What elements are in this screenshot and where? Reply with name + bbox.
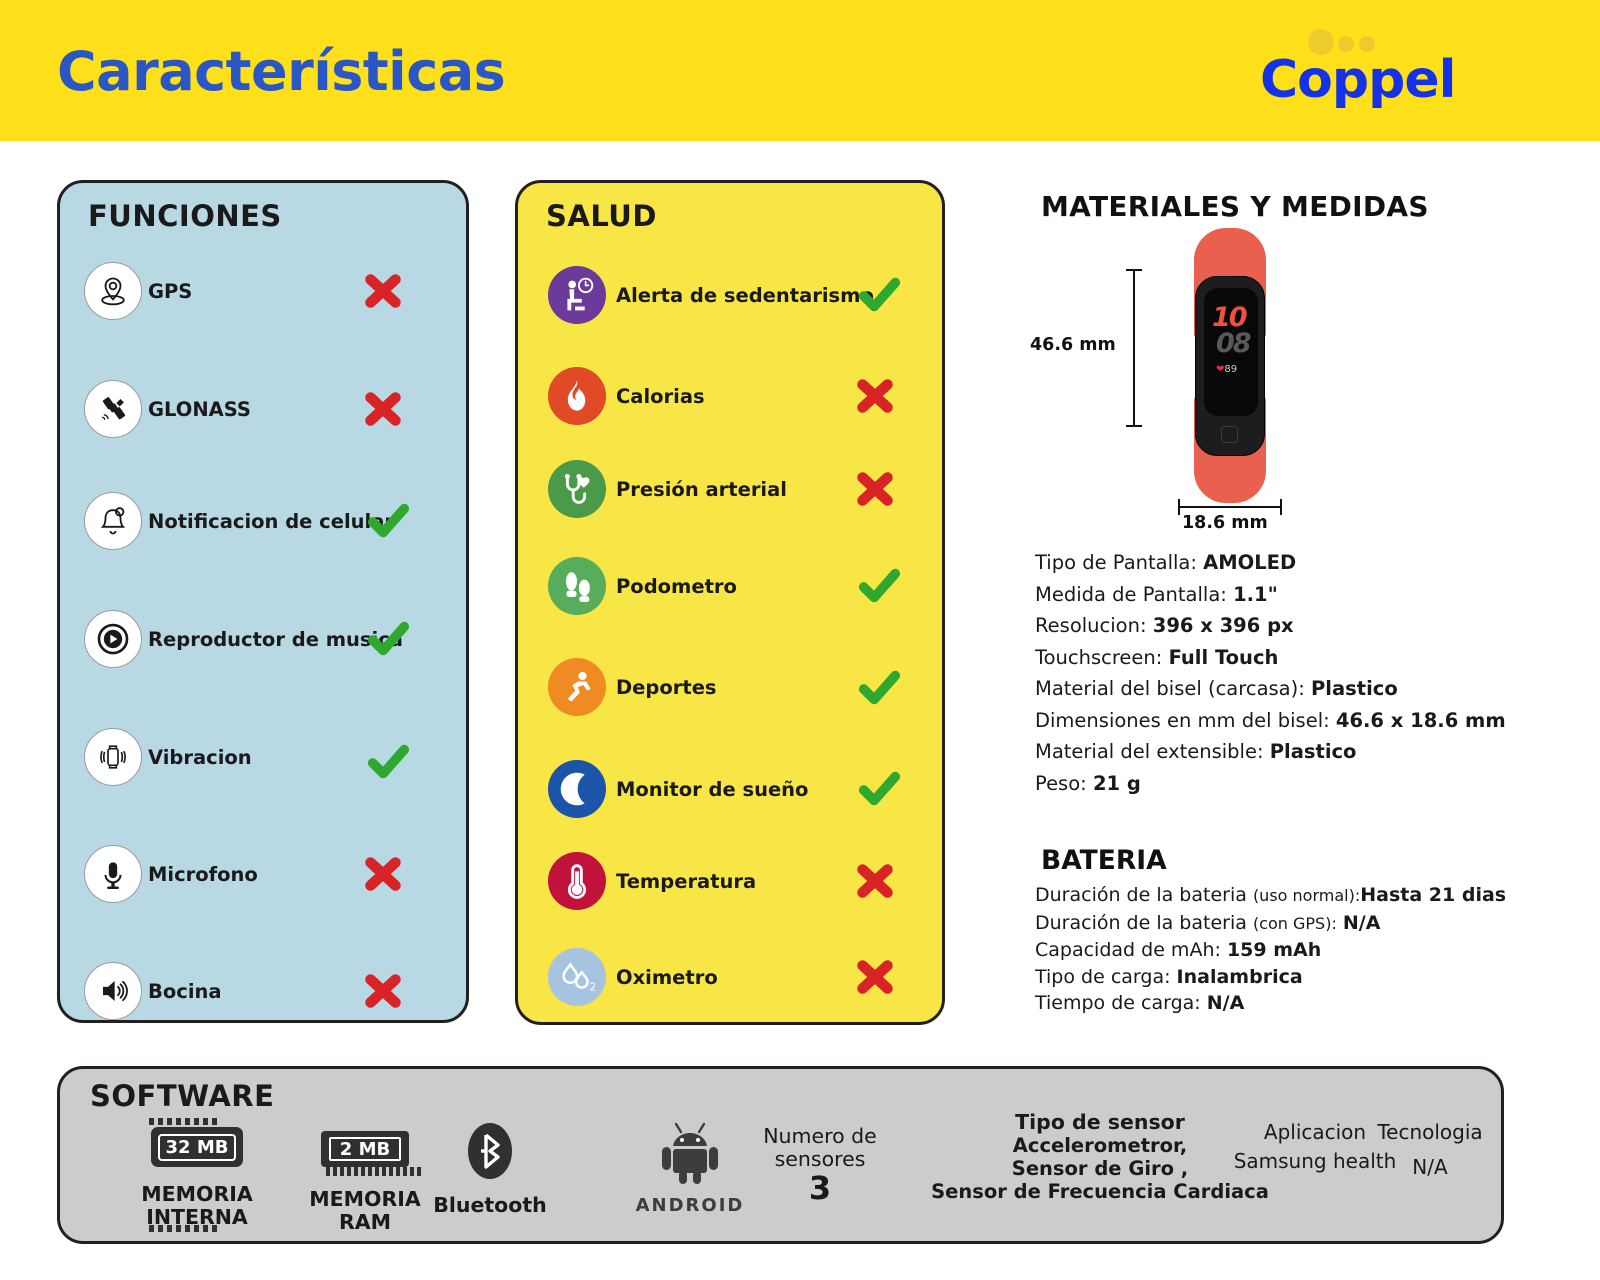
- status-x-icon: [852, 858, 898, 904]
- status-x-icon: [852, 954, 898, 1000]
- feature-label-presion: Presión arterial: [616, 478, 787, 501]
- spec-label: Dimensiones en mm del bisel:: [1035, 709, 1330, 732]
- speaker-icon: [84, 962, 142, 1020]
- spec-row: Material del extensible: Plastico: [1035, 736, 1505, 768]
- memoria-interna-caption-1: MEMORIA: [112, 1183, 282, 1206]
- smart-band: 10 08 ❤89: [1180, 228, 1280, 503]
- spec-row: Touchscreen: Full Touch: [1035, 642, 1505, 674]
- software-memoria-interna: 32 MB MEMORIA INTERNA: [112, 1127, 282, 1229]
- spec-value: Plastico: [1311, 677, 1398, 700]
- footsteps-icon: [548, 557, 606, 615]
- bluetooth-icon: [466, 1121, 514, 1181]
- band-home-button: [1221, 426, 1238, 443]
- sedentary-alert-icon: [548, 266, 606, 324]
- tipo-sensor-line-3: Sensor de Frecuencia Cardiaca: [840, 1180, 1360, 1203]
- dimension-height-line: [1133, 269, 1135, 427]
- software-bluetooth: Bluetooth: [405, 1121, 575, 1217]
- spec-row: Tipo de Pantalla: AMOLED: [1035, 547, 1505, 579]
- satellite-icon: [84, 380, 142, 438]
- spec-row: Peso: 21 g: [1035, 768, 1505, 800]
- memory-chip-pins-bottom: [149, 1225, 217, 1232]
- spec-label: Material del extensible:: [1035, 740, 1264, 763]
- bateria-list: Duración de la bateria (uso normal):Hast…: [1035, 882, 1515, 1017]
- bateria-sub: (uso normal):: [1253, 886, 1360, 905]
- bateria-value: N/A: [1207, 992, 1245, 1014]
- feature-row-gps: GPS: [60, 255, 466, 327]
- spec-value: 21 g: [1093, 772, 1141, 795]
- band-body: 10 08 ❤89: [1195, 276, 1265, 456]
- memoria-interna-value: 32 MB: [158, 1134, 236, 1161]
- bateria-row: Tiempo de carga: N/A: [1035, 990, 1515, 1017]
- spec-label: Peso:: [1035, 772, 1087, 795]
- bateria-label: Capacidad de mAh:: [1035, 939, 1221, 961]
- running-icon: [548, 658, 606, 716]
- stethoscope-heart-icon: [548, 460, 606, 518]
- dimension-height-label: 46.6 mm: [1030, 335, 1116, 355]
- feature-label-bocina: Bocina: [148, 980, 222, 1003]
- spec-row: Resolucion: 396 x 396 px: [1035, 610, 1505, 642]
- bateria-label: Tipo de carga:: [1035, 966, 1171, 988]
- status-x-icon: [360, 268, 406, 314]
- spec-label: Resolucion:: [1035, 614, 1147, 637]
- spec-value: 1.1": [1233, 583, 1278, 606]
- status-x-icon: [852, 466, 898, 512]
- feature-label-sedentarismo: Alerta de sedentarismo: [616, 284, 874, 307]
- feature-row-oximetro: 2 Oximetro: [518, 941, 942, 1013]
- status-check-icon: [365, 739, 411, 785]
- spec-value: AMOLED: [1203, 551, 1296, 574]
- tecnologia-value: N/A: [1350, 1156, 1510, 1179]
- feature-row-reproductor: Reproductor de musica: [60, 603, 466, 675]
- materiales-title: MATERIALES Y MEDIDAS: [1041, 190, 1429, 223]
- tecnologia-caption: Tecnologia: [1350, 1121, 1510, 1144]
- bateria-value: N/A: [1343, 912, 1381, 934]
- feature-label-calorias: Calorias: [616, 385, 705, 408]
- bateria-value: 159 mAh: [1227, 939, 1321, 961]
- gps-pin-icon: [84, 262, 142, 320]
- bateria-row: Tipo de carga: Inalambrica: [1035, 964, 1515, 991]
- page-header: Características Coppel: [0, 0, 1600, 141]
- page-title: Características: [57, 40, 505, 103]
- spec-row: Medida de Pantalla: 1.1": [1035, 579, 1505, 611]
- feature-row-podometro: Podometro: [518, 550, 942, 622]
- status-x-icon: [360, 851, 406, 897]
- feature-row-deportes: Deportes: [518, 651, 942, 723]
- feature-label-oximetro: Oximetro: [616, 966, 718, 989]
- feature-label-glonass: GLONASS: [148, 398, 251, 421]
- bateria-row: Capacidad de mAh: 159 mAh: [1035, 937, 1515, 964]
- spec-list: Tipo de Pantalla: AMOLED Medida de Panta…: [1035, 547, 1505, 799]
- status-check-icon: [856, 272, 902, 318]
- feature-label-deportes: Deportes: [616, 676, 717, 699]
- spec-label: Touchscreen:: [1035, 646, 1162, 669]
- funciones-panel: FUNCIONES GPS GLONASS: [57, 180, 469, 1023]
- feature-row-vibracion: Vibracion: [60, 721, 466, 793]
- band-time-minutes: 08: [1216, 328, 1250, 359]
- dimension-width-label: 18.6 mm: [1182, 513, 1268, 533]
- status-check-icon: [365, 616, 411, 662]
- status-x-icon: [360, 968, 406, 1014]
- spec-label: Material del bisel (carcasa):: [1035, 677, 1305, 700]
- dimension-width-line: [1178, 506, 1282, 508]
- band-heart-rate-value: 89: [1224, 364, 1237, 375]
- feature-row-sueno: Monitor de sueño: [518, 753, 942, 825]
- feature-row-temperatura: Temperatura: [518, 845, 942, 917]
- software-tecnologia: Tecnologia N/A: [1350, 1121, 1510, 1179]
- bateria-label: Tiempo de carga:: [1035, 992, 1201, 1014]
- salud-panel: SALUD Alerta de sedentarismo Calorias: [515, 180, 945, 1025]
- memory-chip-icon: 32 MB: [151, 1127, 243, 1167]
- bateria-label: Duración de la bateria: [1035, 884, 1247, 906]
- ram-stick-icon: 2 MB: [321, 1131, 409, 1167]
- spec-value: 396 x 396 px: [1153, 614, 1294, 637]
- status-check-icon: [365, 498, 411, 544]
- spec-value: Plastico: [1270, 740, 1357, 763]
- feature-label-podometro: Podometro: [616, 575, 737, 598]
- feature-label-microfono: Microfono: [148, 863, 258, 886]
- spec-label: Medida de Pantalla:: [1035, 583, 1227, 606]
- svg-text:2: 2: [589, 981, 596, 993]
- bell-icon: [84, 492, 142, 550]
- spec-value: Full Touch: [1169, 646, 1279, 669]
- logo-wordmark: Coppel: [1260, 50, 1455, 110]
- spec-value: 46.6 x 18.6 mm: [1336, 709, 1506, 732]
- feature-label-notificacion: Notificacion de celular: [148, 510, 394, 533]
- status-check-icon: [856, 665, 902, 711]
- feature-label-vibracion: Vibracion: [148, 746, 252, 769]
- feature-row-notificacion: Notificacion de celular: [60, 485, 466, 557]
- software-panel: SOFTWARE 32 MB MEMORIA INTERNA 2 MB MEMO…: [57, 1066, 1504, 1244]
- watch-illustration: 46.6 mm 10 08 ❤89 18.6 mm: [1030, 225, 1490, 525]
- bateria-title: BATERIA: [1041, 845, 1167, 876]
- bluetooth-caption: Bluetooth: [405, 1194, 575, 1217]
- feature-label-gps: GPS: [148, 280, 192, 303]
- android-icon: [654, 1121, 726, 1187]
- bateria-value: Inalambrica: [1177, 966, 1303, 988]
- moon-icon: [548, 760, 606, 818]
- play-circle-icon: [84, 610, 142, 668]
- feature-row-microfono: Microfono: [60, 838, 466, 910]
- bateria-sub: (con GPS):: [1253, 914, 1337, 933]
- spec-row: Material del bisel (carcasa): Plastico: [1035, 673, 1505, 705]
- feature-row-bocina: Bocina: [60, 955, 466, 1027]
- salud-title: SALUD: [546, 199, 657, 233]
- band-heart-rate: ❤89: [1216, 364, 1237, 375]
- vibration-watch-icon: [84, 728, 142, 786]
- coppel-logo: Coppel: [1260, 28, 1490, 123]
- feature-label-sueno: Monitor de sueño: [616, 778, 808, 801]
- spec-row: Dimensiones en mm del bisel: 46.6 x 18.6…: [1035, 705, 1505, 737]
- feature-row-presion: Presión arterial: [518, 453, 942, 525]
- microphone-icon: [84, 845, 142, 903]
- bateria-row: Duración de la bateria (uso normal):Hast…: [1035, 882, 1515, 910]
- oxygen-drop-icon: 2: [548, 948, 606, 1006]
- status-x-icon: [360, 386, 406, 432]
- status-check-icon: [856, 766, 902, 812]
- status-x-icon: [852, 373, 898, 419]
- band-screen: 10 08 ❤89: [1204, 288, 1258, 416]
- feature-row-calorias: Calorias: [518, 360, 942, 432]
- feature-row-sedentarismo: Alerta de sedentarismo: [518, 259, 942, 331]
- bateria-value: Hasta 21 dias: [1360, 884, 1506, 906]
- funciones-title: FUNCIONES: [88, 199, 282, 233]
- bateria-row: Duración de la bateria (con GPS): N/A: [1035, 910, 1515, 938]
- feature-row-glonass: GLONASS: [60, 373, 466, 445]
- feature-label-temperatura: Temperatura: [616, 870, 756, 893]
- thermometer-icon: [548, 852, 606, 910]
- bateria-label: Duración de la bateria: [1035, 912, 1247, 934]
- status-check-icon: [856, 563, 902, 609]
- software-title: SOFTWARE: [90, 1079, 274, 1113]
- memoria-ram-value: 2 MB: [329, 1137, 401, 1161]
- spec-label: Tipo de Pantalla:: [1035, 551, 1197, 574]
- flame-icon: [548, 367, 606, 425]
- memory-chip-pins-top: [149, 1118, 217, 1125]
